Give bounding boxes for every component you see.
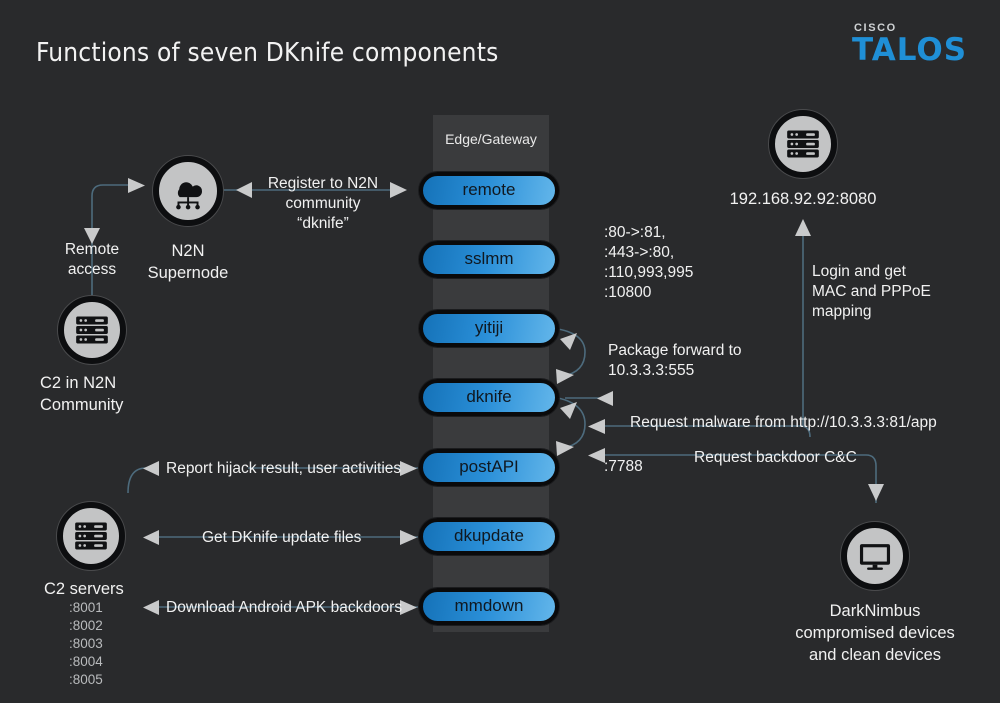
c2-servers-ports: :8001 :8002 :8003 :8004 :8005 <box>69 599 179 689</box>
cisco-talos-logo: CISCO TALOS <box>852 22 980 68</box>
component-dknife[interactable]: dknife <box>419 379 559 416</box>
edge-label-port-map: :80->:81, :443->:80, :110,993,995 :10800 <box>604 223 754 303</box>
cloud-network-icon <box>167 170 209 212</box>
server-icon <box>72 517 110 555</box>
edge-label-remote-access: Remote access <box>42 240 142 280</box>
component-sslmm-label: sslmm <box>464 249 513 269</box>
edge-label-download-apk: Download Android APK backdoors <box>166 598 416 618</box>
edge-label-port-7788: :7788 <box>604 457 684 477</box>
gateway-server-label: 192.168.92.92:8080 <box>693 188 913 210</box>
c2-servers-label: C2 servers <box>44 578 204 600</box>
edge-label-get-update: Get DKnife update files <box>202 528 432 548</box>
c2-servers-node[interactable] <box>57 502 125 570</box>
edge-label-report-hijack: Report hijack result, user activities <box>166 459 446 479</box>
logo-product-text: TALOS <box>852 34 980 66</box>
component-dkupdate-label: dkupdate <box>454 526 524 546</box>
edge-gateway-label: Edge/Gateway <box>433 131 549 147</box>
edge-label-package-forward: Package forward to 10.3.3.3:555 <box>608 341 808 381</box>
c2-n2n-label: C2 in N2N Community <box>40 372 190 416</box>
component-mmdown[interactable]: mmdown <box>419 588 559 625</box>
component-dkupdate[interactable]: dkupdate <box>419 518 559 555</box>
component-mmdown-label: mmdown <box>455 596 524 616</box>
edge-label-request-backdoor: Request backdoor C&C <box>694 448 914 468</box>
component-yitiji-label: yitiji <box>475 318 503 338</box>
gateway-server-node[interactable] <box>769 110 837 178</box>
component-postapi-label: postAPI <box>459 457 519 477</box>
page-title: Functions of seven DKnife components <box>36 38 498 68</box>
darknimbus-node[interactable] <box>841 522 909 590</box>
edge-label-login-mac: Login and get MAC and PPPoE mapping <box>812 262 982 322</box>
darknimbus-label: DarkNimbus compromised devices and clean… <box>775 600 975 666</box>
component-dknife-label: dknife <box>466 387 511 407</box>
component-yitiji[interactable]: yitiji <box>419 310 559 347</box>
c2-n2n-node[interactable] <box>58 296 126 364</box>
component-remote[interactable]: remote <box>419 172 559 209</box>
edge-label-register-n2n: Register to N2N community “dknife” <box>258 174 388 234</box>
server-icon <box>784 125 822 163</box>
server-icon <box>73 311 111 349</box>
monitor-icon <box>856 537 894 575</box>
edge-label-request-malware: Request malware from http://10.3.3.3:81/… <box>630 413 940 433</box>
component-sslmm[interactable]: sslmm <box>419 241 559 278</box>
n2n-supernode-node[interactable] <box>153 156 223 226</box>
component-remote-label: remote <box>463 180 516 200</box>
diagram-canvas: Functions of seven DKnife components CIS… <box>0 0 1000 703</box>
